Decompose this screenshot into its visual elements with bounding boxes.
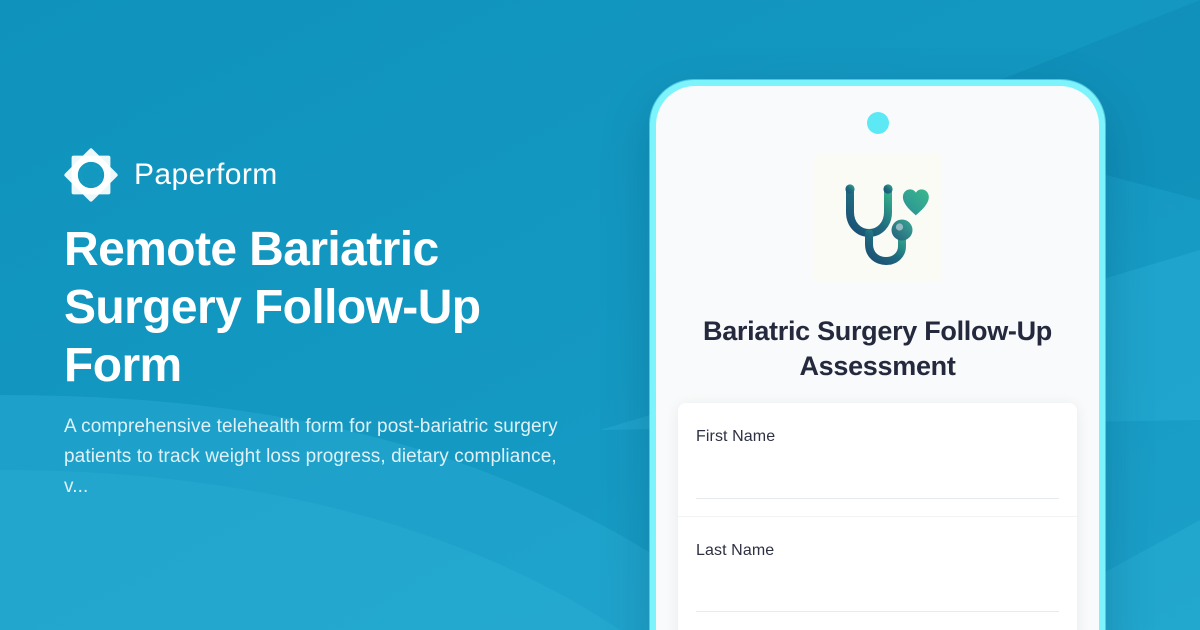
form-field-last-name[interactable]: Last Name	[678, 516, 1077, 629]
form-hero-image-wrap	[656, 154, 1099, 282]
form-title: Bariatric Surgery Follow-Up Assessment	[682, 314, 1073, 384]
phone-screen: Bariatric Surgery Follow-Up Assessment F…	[656, 86, 1099, 630]
stethoscope-heart-icon	[814, 154, 942, 282]
brand-lockup: Paperform	[64, 148, 278, 202]
paperform-star-logo-icon	[64, 148, 118, 202]
field-underline	[696, 611, 1059, 612]
field-underline	[696, 498, 1059, 499]
phone-mockup: Bariatric Surgery Follow-Up Assessment F…	[650, 80, 1105, 630]
field-label: Last Name	[696, 541, 1059, 561]
brand-name: Paperform	[134, 160, 278, 190]
share-card: Paperform Remote Bariatric Surgery Follo…	[0, 0, 1200, 630]
form-fields-card: First Name Last Name	[678, 403, 1077, 630]
hero-text-column: Paperform Remote Bariatric Surgery Follo…	[64, 0, 604, 630]
page-title: Remote Bariatric Surgery Follow-Up Form	[64, 221, 564, 395]
front-camera-dot	[867, 112, 889, 134]
form-field-first-name[interactable]: First Name	[678, 403, 1077, 516]
field-label: First Name	[696, 427, 1059, 447]
page-description: A comprehensive telehealth form for post…	[64, 412, 584, 502]
